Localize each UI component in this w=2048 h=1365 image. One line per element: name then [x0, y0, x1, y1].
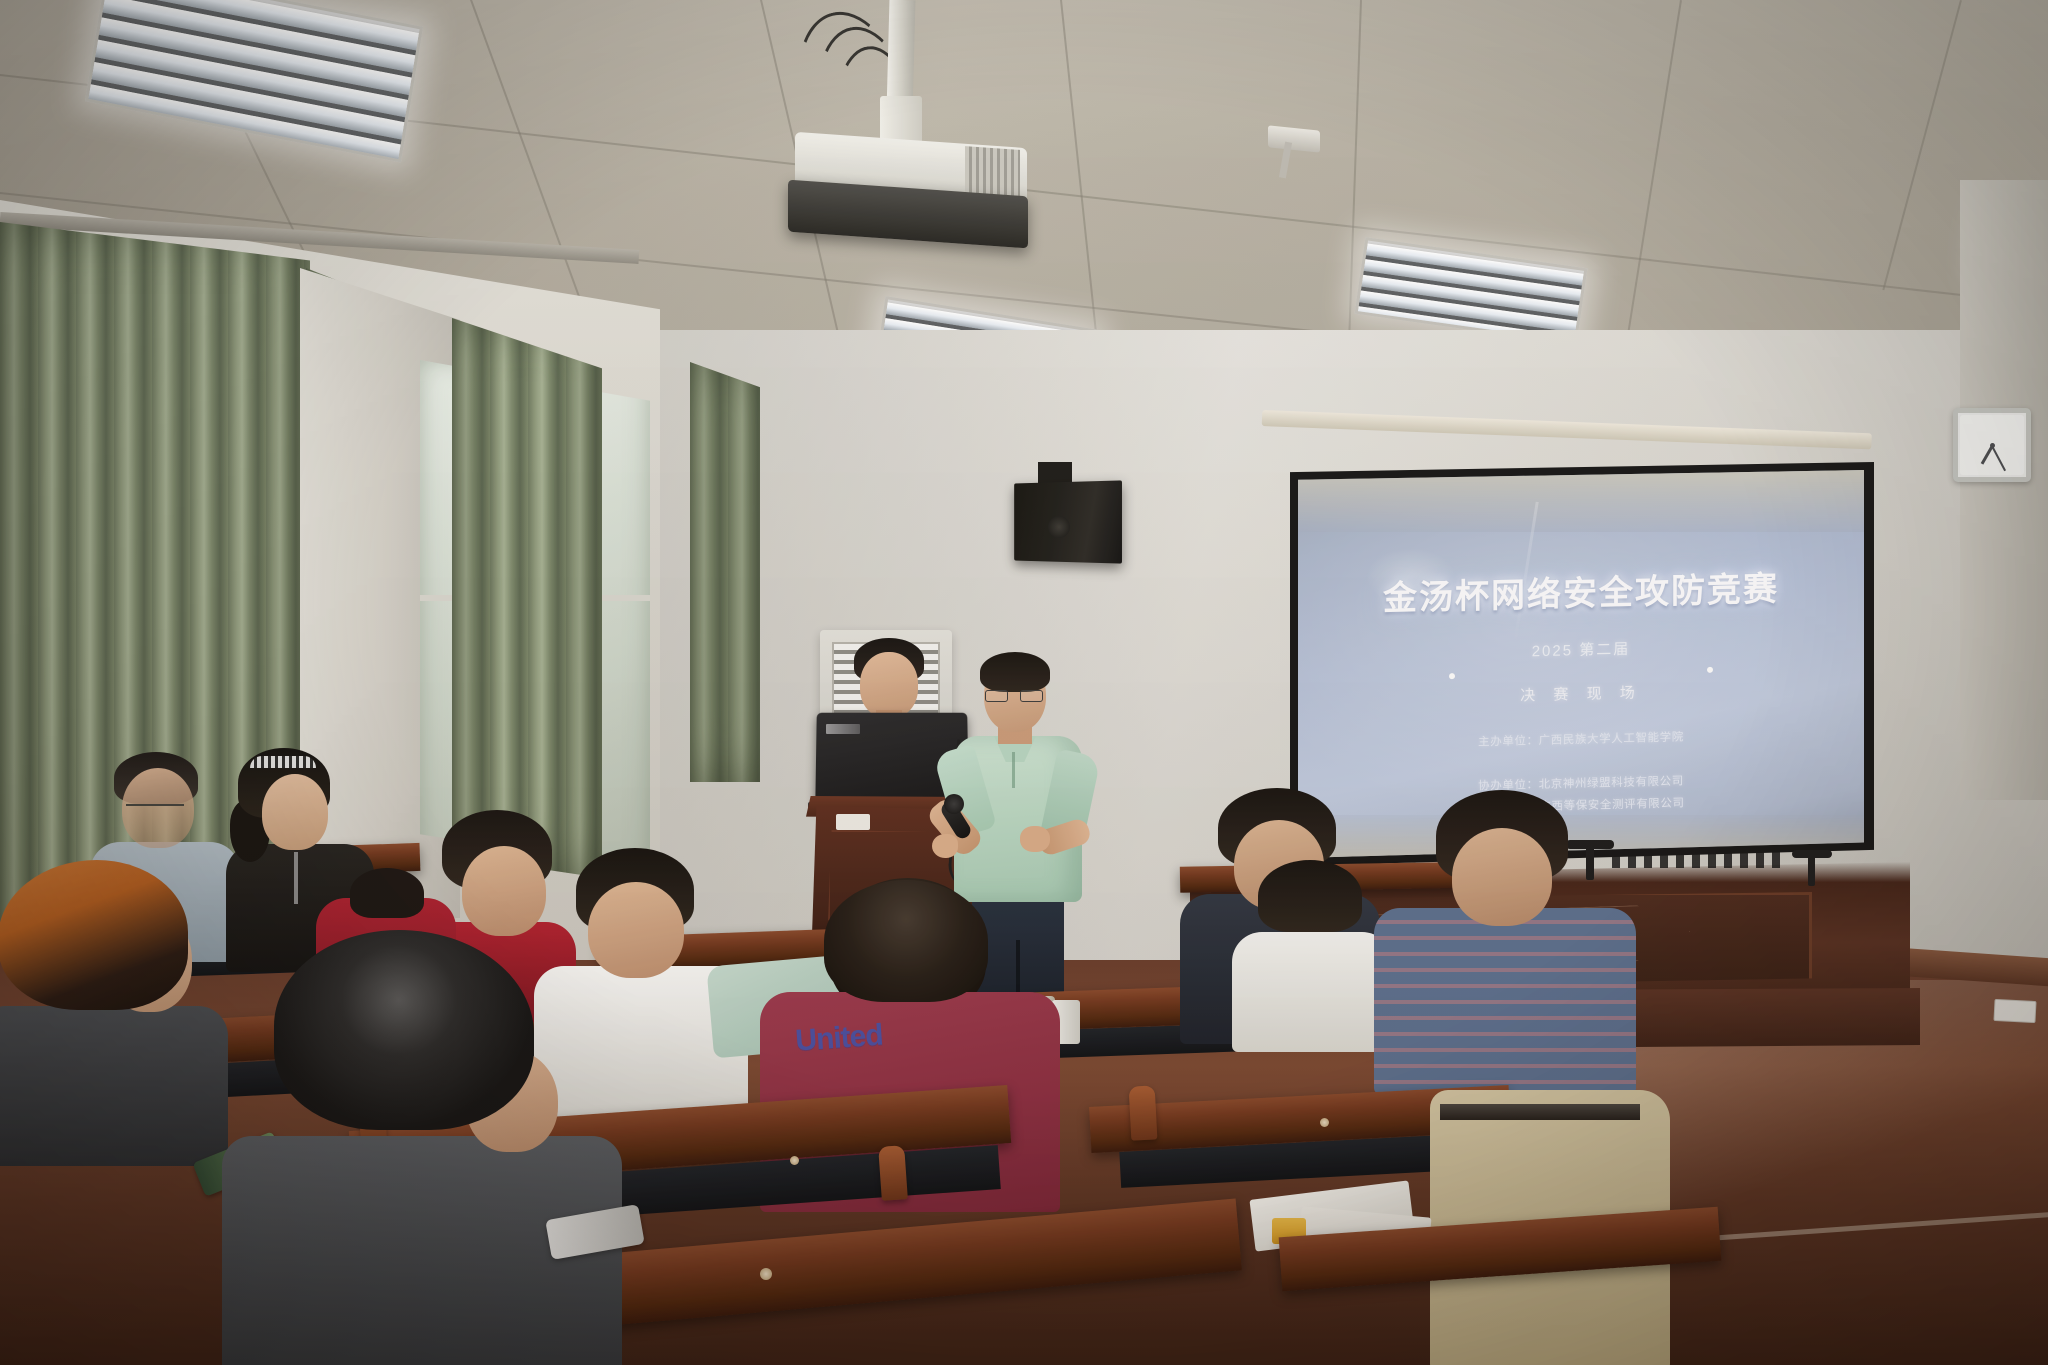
clock-face — [1960, 415, 2024, 475]
audience-head — [1452, 828, 1552, 926]
slide-content: 金汤杯网络安全攻防竞赛 2025 第二届 决 赛 现 场 主办单位：广西民族大学… — [1298, 517, 1864, 822]
audience-head — [588, 882, 684, 978]
slide-title: 金汤杯网络安全攻防竞赛 — [1383, 561, 1779, 620]
audience-hair — [824, 880, 988, 1002]
belt — [1440, 1104, 1640, 1120]
laptop-logo — [826, 724, 860, 734]
speaker-cone — [1048, 516, 1070, 538]
lanyard — [294, 852, 298, 904]
bench-finial — [1129, 1085, 1158, 1140]
glasses-icon — [126, 804, 184, 815]
coiled-cable — [1612, 850, 1782, 868]
operator-head — [860, 652, 918, 718]
bench-stud — [790, 1156, 799, 1165]
presenter-placket — [1012, 752, 1015, 788]
bench-finial — [878, 1145, 908, 1201]
audience-head — [262, 774, 328, 850]
hair-band — [250, 756, 316, 768]
projector-vent — [965, 146, 1020, 198]
wall-outlet-icon — [1993, 999, 2036, 1023]
audience-member — [0, 860, 220, 1160]
slide-subtitle-year: 2025 第二届 — [1532, 638, 1631, 661]
presenter-left-hand — [932, 834, 958, 858]
audience-body — [1374, 908, 1636, 1094]
audience-member — [1236, 860, 1386, 1050]
audience-hair — [1258, 860, 1362, 932]
audience-body — [0, 1006, 228, 1166]
shirt-print-text: United — [794, 1016, 927, 1079]
audience-member — [1390, 790, 1620, 1090]
slide-organizer-line: 主办单位：广西民族大学人工智能学院 — [1478, 732, 1684, 749]
audience-hair — [274, 930, 534, 1130]
window-curtain — [452, 318, 602, 878]
podium-label — [836, 814, 870, 830]
clock-center-pin — [1990, 443, 1995, 448]
presenter-right-hand — [1020, 826, 1050, 852]
audience-body — [1232, 932, 1392, 1052]
clock-minute-hand — [1991, 446, 2006, 472]
audience-head — [462, 846, 546, 936]
conference-room-photo: 金汤杯网络安全攻防竞赛 2025 第二届 决 赛 现 场 主办单位：广西民族大学… — [0, 0, 2048, 1365]
audience-member — [252, 930, 582, 1365]
wall-clock-icon — [1953, 408, 2031, 482]
presenter-hair — [980, 652, 1050, 692]
slide-divider — [1452, 669, 1710, 675]
bench-stud — [760, 1268, 772, 1280]
glasses-icon — [984, 690, 1044, 702]
slide-subtitle-stage: 决 赛 现 场 — [1520, 682, 1642, 706]
desk-mic-stand — [1808, 856, 1815, 886]
audience-hair — [0, 860, 188, 1010]
audience-hair — [350, 868, 424, 918]
window-curtain — [690, 362, 760, 782]
bench-stud — [1320, 1118, 1329, 1127]
microphone-head — [944, 794, 964, 814]
right-wall — [1960, 180, 2048, 800]
